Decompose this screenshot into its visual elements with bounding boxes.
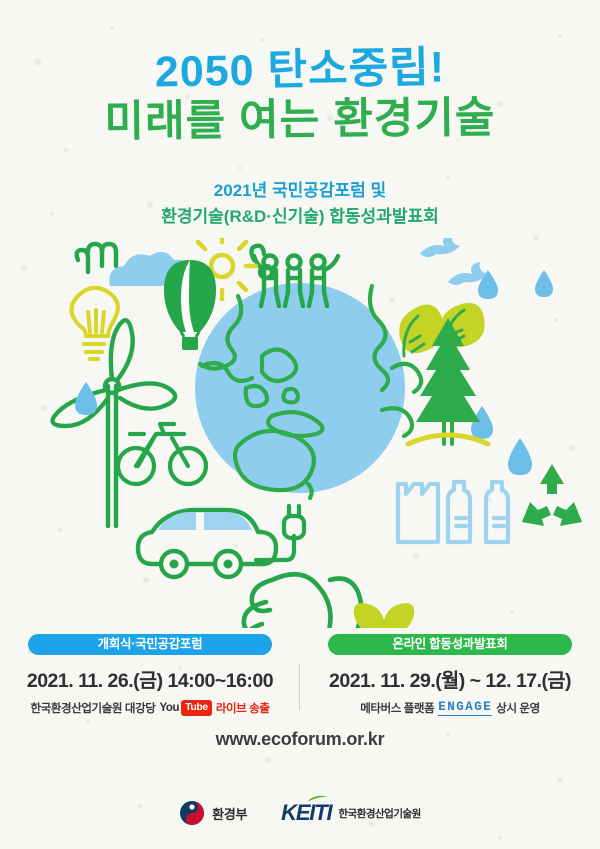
poster-subtitle-block: 2021년 국민공감포럼 및 환경기술(R&D·신기술) 합동성과발표회: [0, 178, 600, 229]
panel-online-presentation: 온라인 합동성과발표회 2021. 11. 29.(월) ~ 12. 17.(금…: [300, 634, 600, 716]
bicycle-icon: [118, 424, 206, 484]
engage-logo: ENGAGE: [438, 700, 492, 716]
title-line-1: 2050 탄소중립!: [0, 41, 600, 100]
panel-right-heading: 온라인 합동성과발표회: [328, 634, 572, 655]
plastic-bottles-icon: [398, 482, 508, 542]
youtube-logo-icon: You Tube: [159, 700, 211, 715]
panel-left-note: 한국환경산업기술원 대강당 You Tube 라이브 송출: [0, 700, 300, 716]
youtube-you-text: You: [159, 702, 179, 714]
panel-right-operation: 상시 운영: [496, 700, 540, 716]
taegeuk-icon: [179, 800, 205, 826]
ministry-name: 환경부: [212, 804, 247, 823]
subtitle-line-1: 2021년 국민공감포럼 및: [0, 178, 600, 204]
recycle-symbol-icon: [522, 464, 582, 526]
poster-title-block: 2050 탄소중립! 미래를 여는 환경기술: [0, 46, 600, 146]
title-line-2: 미래를 여는 환경기술: [0, 93, 600, 149]
electric-car-icon: [138, 506, 304, 577]
footer-logos: 환경부 KEITI 한국환경산업기술원: [0, 800, 600, 826]
panel-left-venue: 한국환경산업기술원 대강당: [30, 700, 155, 716]
wind-turbine-icon: [53, 320, 176, 526]
website-url[interactable]: www.ecoforum.or.kr: [0, 729, 600, 750]
schedule-panels: 개회식·국민공감포럼 2021. 11. 26.(금) 14:00~16:00 …: [0, 634, 600, 716]
keiti-logo: KEITI 한국환경산업기술원: [281, 800, 421, 826]
panel-left-live-label: 라이브 송출: [216, 700, 270, 716]
panel-left-heading: 개회식·국민공감포럼: [28, 634, 272, 655]
eco-illustration: [0, 238, 600, 628]
hot-air-balloon-icon: [164, 260, 216, 350]
panel-right-date: 2021. 11. 29.(월) ~ 12. 17.(금): [300, 664, 600, 693]
earth-globe-icon: [195, 283, 421, 498]
birds-icon: [420, 238, 488, 285]
panel-right-venue: 메타버스 플랫폼: [360, 700, 434, 716]
youtube-tube-badge: Tube: [181, 700, 212, 715]
poster-root: 2050 탄소중립! 미래를 여는 환경기술 2021년 국민공감포럼 및 환경…: [0, 0, 600, 849]
subtitle-line-2: 환경기술(R&D·신기술) 합동성과발표회: [0, 204, 600, 230]
sprout-icon: [354, 603, 414, 628]
panel-right-note: 메타버스 플랫폼 ENGAGE 상시 운영: [300, 700, 600, 716]
panel-left-date: 2021. 11. 26.(금) 14:00~16:00: [0, 664, 300, 693]
hands-icon: [242, 574, 361, 628]
panel-opening-forum: 개회식·국민공감포럼 2021. 11. 26.(금) 14:00~16:00 …: [0, 634, 300, 716]
keiti-wordmark: KEITI: [281, 800, 331, 825]
keiti-swoosh-icon: [307, 795, 329, 803]
ministry-of-environment-logo: 환경부: [179, 800, 247, 826]
keiti-full-name: 한국환경산업기술원: [338, 806, 420, 821]
